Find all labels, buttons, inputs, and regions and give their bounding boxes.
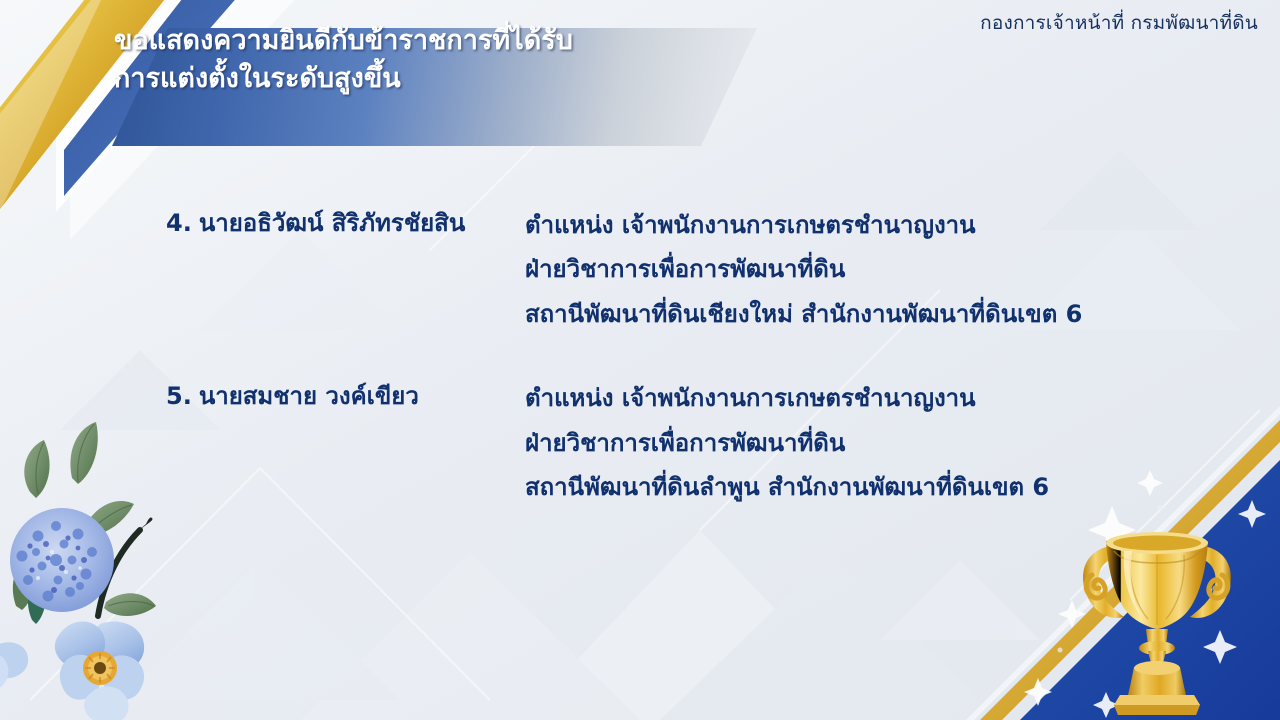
honoree-number: 5. [166, 382, 192, 410]
honoree-number: 4. [166, 209, 192, 237]
honoree-detail-column: ตำแหน่ง เจ้าพนักงานการเกษตรชำนาญงาน ฝ่าย… [525, 203, 1280, 336]
honoree-division: ฝ่ายวิชาการเพื่อการพัฒนาที่ดิน [525, 247, 1280, 291]
honoree-division: ฝ่ายวิชาการเพื่อการพัฒนาที่ดิน [525, 421, 1280, 465]
list-item: 5.นายสมชาย วงค์เขียว ตำแหน่ง เจ้าพนักงาน… [0, 376, 1280, 509]
presentation-slide: กองการเจ้าหน้าที่ กรมพัฒนาที่ดิน ขอแสดงค… [0, 0, 1280, 720]
title-line-2: การแต่งตั้งในระดับสูงขึ้น [114, 60, 573, 98]
list-item: 4.นายอธิวัฒน์ สิริภัทรชัยสิน ตำแหน่ง เจ้… [0, 203, 1280, 336]
honoree-station: สถานีพัฒนาที่ดินลำพูน สำนักงานพัฒนาที่ดิ… [525, 465, 1280, 509]
honoree-detail-column: ตำแหน่ง เจ้าพนักงานการเกษตรชำนาญงาน ฝ่าย… [525, 376, 1280, 509]
page-title: ขอแสดงความยินดีกับข้าราชการที่ได้รับ การ… [114, 22, 573, 99]
honoree-name-column: 5.นายสมชาย วงค์เขียว [0, 376, 525, 415]
honoree-name: นายสมชาย วงค์เขียว [199, 382, 419, 410]
honoree-name: นายอธิวัฒน์ สิริภัทรชัยสิน [199, 209, 465, 237]
honoree-name-column: 4.นายอธิวัฒน์ สิริภัทรชัยสิน [0, 203, 525, 242]
organization-header-text: กองการเจ้าหน้าที่ กรมพัฒนาที่ดิน [980, 8, 1258, 38]
honoree-station: สถานีพัฒนาที่ดินเชียงใหม่ สำนักงานพัฒนาท… [525, 292, 1280, 336]
honoree-position: ตำแหน่ง เจ้าพนักงานการเกษตรชำนาญงาน [525, 203, 1280, 247]
honoree-position: ตำแหน่ง เจ้าพนักงานการเกษตรชำนาญงาน [525, 376, 1280, 420]
title-line-1: ขอแสดงความยินดีกับข้าราชการที่ได้รับ [114, 22, 573, 60]
honoree-list: 4.นายอธิวัฒน์ สิริภัทรชัยสิน ตำแหน่ง เจ้… [0, 203, 1280, 549]
